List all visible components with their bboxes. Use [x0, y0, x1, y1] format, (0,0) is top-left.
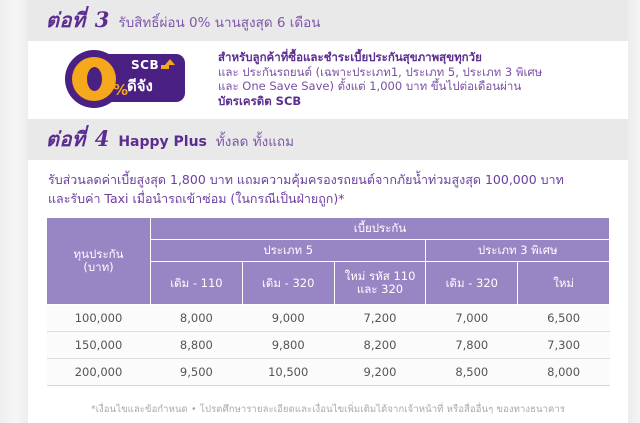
rate-table-wrap: ทุนประกัน (บาท) เบี้ยประกัน ประเภท 5 ประ… — [28, 217, 628, 386]
section-4-number: 4 — [95, 126, 110, 151]
header-premium: เบี้ยประกัน — [151, 218, 610, 240]
section-4-subtitle: ทั้งลด ทั้งแถม — [216, 130, 294, 152]
row-0-col-0: 8,000 — [151, 305, 243, 332]
s4-line-2: และรับค่า Taxi เมื่อนำรถเข้าซ่อม (ในกรณี… — [48, 189, 628, 208]
page-left-margin — [0, 0, 28, 423]
header-sub-1: เดิม - 320 — [242, 262, 334, 305]
row-2-col-1: 10,500 — [242, 359, 334, 386]
row-0-capital: 100,000 — [47, 305, 151, 332]
header-capital-line2: (บาท) — [49, 261, 148, 274]
header-capital: ทุนประกัน (บาท) — [47, 218, 151, 305]
row-2-col-2: 9,200 — [334, 359, 426, 386]
scb-dejung-badge-wrap: % SCB ดีจัง — [28, 50, 218, 108]
section-3-header: ต่อที่ 3 รับสิทธิ์ผ่อน 0% นานสูงสุด 6 เด… — [28, 0, 628, 41]
scb-dejung-badge: % SCB ดีจัง — [61, 50, 185, 108]
section-3-body: % SCB ดีจัง สำหรับลูกค้าที่ซื้อและชำระเบ… — [28, 41, 628, 119]
section-3-number: 3 — [95, 7, 110, 32]
s3-line-3: และ One Save Save) ตั้งแต่ 1,000 บาท ขึ้… — [218, 79, 521, 93]
promo-page: ต่อที่ 3 รับสิทธิ์ผ่อน 0% นานสูงสุด 6 เด… — [28, 0, 628, 423]
header-group-type3special: ประเภท 3 พิเศษ — [426, 240, 610, 262]
table-row: 150,000 8,800 9,800 8,200 7,800 7,300 — [47, 332, 610, 359]
section-3-tag: ต่อที่ — [46, 4, 86, 36]
zero-ring — [72, 57, 116, 101]
section-3-text: สำหรับลูกค้าที่ซื้อและชำระเบี้ยประกันสุข… — [218, 50, 628, 108]
section-4-header: ต่อที่ 4 Happy Plus ทั้งลด ทั้งแถม — [28, 119, 628, 160]
percent-symbol: % — [113, 81, 128, 99]
section-4-body: รับส่วนลดค่าเบี้ยสูงสุด 1,800 บาท แถมควา… — [28, 160, 628, 217]
row-1-col-0: 8,800 — [151, 332, 243, 359]
header-sub-4: ใหม่ — [518, 262, 610, 305]
house-icon-base — [161, 65, 169, 69]
row-1-col-3: 7,800 — [426, 332, 518, 359]
zero-percent-icon — [65, 50, 123, 108]
row-1-col-4: 7,300 — [518, 332, 610, 359]
row-2-col-4: 8,000 — [518, 359, 610, 386]
s3-line-2: และ ประกันรถยนต์ (เฉพาะประเภท1, ประเภท 5… — [218, 65, 542, 79]
s4-line-1: รับส่วนลดค่าเบี้ยสูงสุด 1,800 บาท แถมควา… — [48, 170, 628, 189]
table-row: 200,000 9,500 10,500 9,200 8,500 8,000 — [47, 359, 610, 386]
zero-hole — [87, 67, 102, 91]
header-sub-0: เดิม - 110 — [151, 262, 243, 305]
section-4-tag: ต่อที่ — [46, 123, 86, 155]
header-sub-2: ใหม่ รหัส 110 และ 320 — [334, 262, 426, 305]
section-4-subtitle-strong: Happy Plus — [118, 134, 207, 150]
page-right-margin — [628, 0, 640, 423]
table-header-row-1: ทุนประกัน (บาท) เบี้ยประกัน — [47, 218, 610, 240]
row-0-col-3: 7,000 — [426, 305, 518, 332]
section-3-subtitle: รับสิทธิ์ผ่อน 0% นานสูงสุด 6 เดือน — [118, 11, 320, 33]
rate-table-body: 100,000 8,000 9,000 7,200 7,000 6,500 15… — [47, 305, 610, 386]
s3-line-4: บัตรเครดิต SCB — [218, 94, 301, 108]
row-1-col-1: 9,800 — [242, 332, 334, 359]
row-0-col-1: 9,000 — [242, 305, 334, 332]
row-2-capital: 200,000 — [47, 359, 151, 386]
row-1-col-2: 8,200 — [334, 332, 426, 359]
header-sub-3: เดิม - 320 — [426, 262, 518, 305]
table-row: 100,000 8,000 9,000 7,200 7,000 6,500 — [47, 305, 610, 332]
row-1-capital: 150,000 — [47, 332, 151, 359]
rate-table: ทุนประกัน (บาท) เบี้ยประกัน ประเภท 5 ประ… — [46, 217, 610, 386]
row-2-col-3: 8,500 — [426, 359, 518, 386]
s3-line-1: สำหรับลูกค้าที่ซื้อและชำระเบี้ยประกันสุข… — [218, 50, 482, 64]
row-0-col-4: 6,500 — [518, 305, 610, 332]
row-2-col-0: 9,500 — [151, 359, 243, 386]
scb-brand-label: SCB — [131, 58, 159, 72]
dejung-label: ดีจัง — [127, 74, 153, 98]
header-group-type5: ประเภท 5 — [151, 240, 426, 262]
row-0-col-2: 7,200 — [334, 305, 426, 332]
footnote: *เงื่อนไขและข้อกำหนด • โปรดศึกษารายละเอี… — [28, 386, 628, 417]
